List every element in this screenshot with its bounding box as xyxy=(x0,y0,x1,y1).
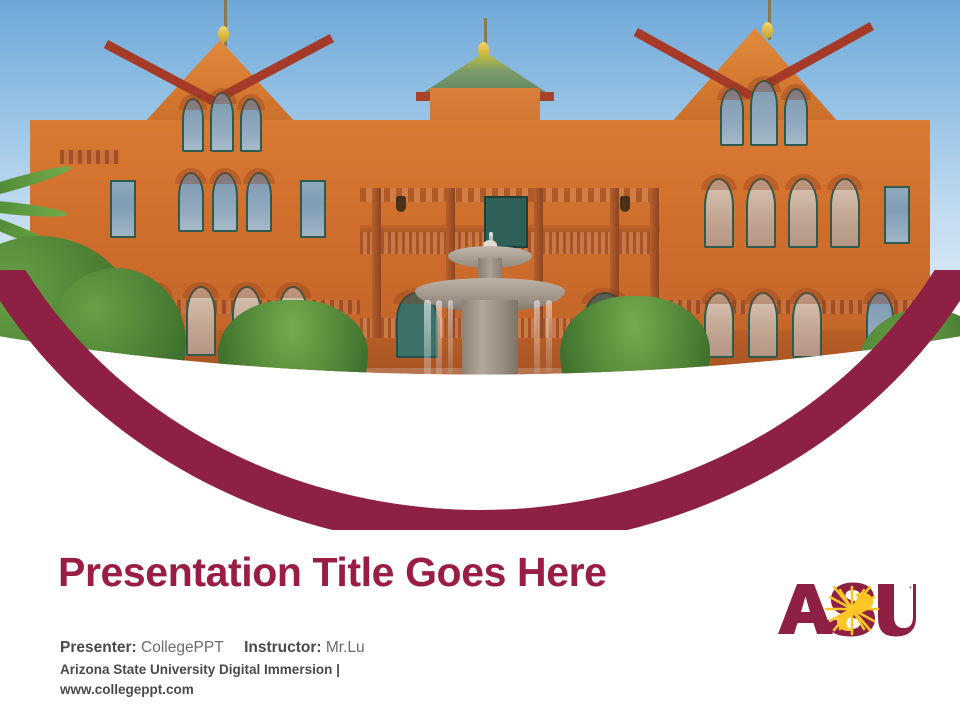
fountain-basin-lip xyxy=(340,392,640,406)
organization-line: Arizona State University Digital Immersi… xyxy=(60,660,365,681)
fountain-urn xyxy=(614,398,644,424)
website-line: www.collegeppt.com xyxy=(60,680,365,701)
fountain-lower-basin xyxy=(350,400,630,446)
instructor-label: Instructor: xyxy=(244,639,322,656)
lawn xyxy=(0,450,960,492)
pool-coping xyxy=(0,478,960,490)
hedge-row xyxy=(0,404,260,444)
first-floor-window xyxy=(186,286,216,356)
second-floor-window xyxy=(110,180,136,238)
asu-logo: ® xyxy=(776,580,916,638)
second-floor-window xyxy=(300,180,326,238)
title-slide: Presentation Title Goes Here Presenter: … xyxy=(0,0,960,720)
basement-window xyxy=(752,402,772,428)
attic-window xyxy=(784,88,808,146)
asu-logo-svg: ® xyxy=(776,580,916,638)
second-floor-window xyxy=(246,172,272,232)
walkway xyxy=(0,438,960,456)
attic-window xyxy=(210,92,234,152)
weeping-tree-center-left xyxy=(218,300,368,440)
basement-window xyxy=(250,398,270,424)
second-floor-window xyxy=(178,172,204,232)
campus-sign xyxy=(186,400,212,434)
attic-window xyxy=(720,88,744,146)
fountain-water-fall xyxy=(534,300,540,380)
hedge-row xyxy=(780,406,960,444)
reflecting-pool xyxy=(0,486,960,520)
presenter-meta-block: Presenter: CollegePPT Instructor: Mr.Lu … xyxy=(60,636,365,701)
veranda-post xyxy=(372,188,381,338)
presenter-label: Presenter: xyxy=(60,639,137,656)
meta-line-1: Presenter: CollegePPT Instructor: Mr.Lu xyxy=(60,636,365,660)
registered-trademark-icon: ® xyxy=(909,585,912,590)
fountain-urn xyxy=(378,398,408,424)
fountain-water-fall xyxy=(448,300,453,374)
second-floor-window xyxy=(212,172,238,232)
second-floor-window xyxy=(746,178,776,248)
second-floor-window xyxy=(704,178,734,248)
basement-window xyxy=(200,398,220,424)
fountain-water-fall xyxy=(424,300,431,392)
fountain-water-fall xyxy=(546,300,552,372)
second-floor-window xyxy=(788,178,818,248)
tree-left-2 xyxy=(46,268,186,418)
first-floor-window xyxy=(748,292,778,358)
presenter-value: CollegePPT xyxy=(141,639,223,656)
basement-window xyxy=(700,402,720,428)
frieze-upper-left xyxy=(60,150,120,164)
fountain-pedestal xyxy=(462,300,518,386)
stone-foundation xyxy=(30,368,930,463)
first-floor-window xyxy=(792,292,822,358)
fountain-corner-block xyxy=(556,388,626,414)
basement-window xyxy=(100,398,120,424)
weeping-tree-center-right xyxy=(560,296,710,442)
spire-finial-left xyxy=(218,26,229,42)
second-floor-window xyxy=(884,186,910,244)
page-title: Presentation Title Goes Here xyxy=(58,549,607,596)
hedge-row xyxy=(600,406,800,442)
basement-window xyxy=(804,402,824,428)
attic-window xyxy=(182,98,204,152)
attic-window xyxy=(750,80,778,146)
hedge-row xyxy=(240,408,460,442)
veranda-lamp xyxy=(620,196,630,212)
fountain-water-fall xyxy=(436,300,442,386)
instructor-value: Mr.Lu xyxy=(326,639,365,656)
second-floor-window xyxy=(830,178,860,248)
old-main-building-photo xyxy=(0,0,960,520)
spire-finial-right xyxy=(762,22,773,38)
veranda-lamp xyxy=(396,196,406,212)
hero-photo-frame xyxy=(0,0,960,520)
fountain-mid-basin xyxy=(370,376,610,398)
basement-window xyxy=(150,398,170,424)
fountain-corner-block xyxy=(360,388,430,414)
attic-window xyxy=(240,98,262,152)
